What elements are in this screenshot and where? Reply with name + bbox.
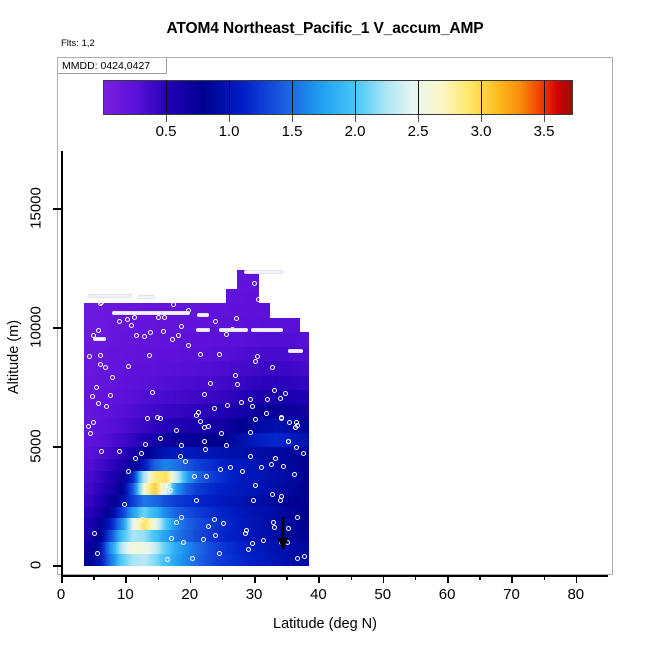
heatmap-cell	[280, 554, 292, 567]
heatmap-cell	[84, 554, 96, 567]
heatmap-cell	[171, 458, 183, 471]
colorbar-divider	[166, 80, 167, 115]
heatmap-cell	[105, 470, 117, 483]
track-point-marker	[133, 456, 138, 461]
heatmap-cell	[84, 494, 96, 507]
heatmap-cell	[259, 470, 271, 483]
heatmap-cell	[226, 289, 238, 304]
heatmap-cell	[299, 432, 309, 447]
track-point-marker	[221, 521, 226, 526]
x-tick-label: 20	[181, 586, 198, 603]
heatmap-cell	[248, 554, 260, 567]
heatmap-cell	[138, 494, 150, 507]
track-point-marker	[269, 462, 274, 467]
heatmap-cell	[259, 418, 271, 433]
track-leg-segment	[197, 313, 209, 317]
heatmap-cell	[127, 542, 139, 555]
x-tick-label: 10	[117, 586, 134, 603]
track-point-marker	[255, 354, 260, 359]
x-minor-tick	[286, 575, 288, 580]
x-axis-line	[61, 575, 608, 577]
heatmap-cell	[138, 530, 150, 543]
heatmap-cell	[259, 542, 271, 555]
heatmap-cell	[259, 506, 271, 519]
track-point-marker	[124, 298, 129, 303]
heatmap-cell	[215, 375, 227, 390]
heatmap-cell	[149, 554, 161, 567]
heatmap-cell	[259, 518, 271, 531]
track-point-marker	[261, 538, 266, 543]
x-minor-tick	[415, 575, 417, 580]
heatmap-cell	[193, 361, 205, 376]
track-point-marker	[202, 439, 207, 444]
heatmap-cell	[237, 554, 249, 567]
track-leg-segment	[288, 349, 303, 353]
heatmap-cell	[204, 482, 216, 495]
heatmap-cell	[127, 518, 139, 531]
x-minor-tick	[351, 575, 353, 580]
heatmap-cell	[149, 518, 161, 531]
heatmap-cell	[116, 506, 128, 519]
heatmap-cell	[94, 470, 106, 483]
heatmap-cell	[299, 403, 309, 418]
track-leg-segment	[219, 328, 248, 332]
heatmap-cell	[84, 482, 96, 495]
track-point-marker	[145, 416, 150, 421]
heatmap-cell	[84, 318, 96, 333]
heatmap-cell	[226, 446, 238, 459]
heatmap-cell	[193, 482, 205, 495]
heatmap-cell	[138, 542, 150, 555]
heatmap-cell	[94, 482, 106, 495]
heatmap-cell	[149, 494, 161, 507]
heatmap-cell	[299, 375, 309, 390]
heatmap-cell	[193, 506, 205, 519]
track-point-marker	[98, 353, 103, 358]
heatmap-cell	[259, 332, 271, 347]
y-tick	[53, 208, 62, 210]
x-tick	[318, 575, 320, 583]
track-point-marker	[157, 295, 162, 300]
heatmap-cell	[105, 518, 117, 531]
heatmap-cell	[84, 518, 96, 531]
colorbar-tick	[355, 115, 356, 122]
y-tick-label: 5000	[28, 430, 45, 463]
x-tick-label: 40	[310, 586, 327, 603]
heatmap-cell	[127, 375, 139, 390]
heatmap-cell	[116, 389, 128, 404]
heatmap-cell	[171, 403, 183, 418]
heatmap-cell	[171, 470, 183, 483]
heatmap-cell	[105, 494, 117, 507]
heatmap-cell	[193, 542, 205, 555]
heatmap-cell	[259, 446, 271, 459]
heatmap-cell	[105, 458, 117, 471]
x-tick	[383, 575, 385, 583]
track-point-marker	[301, 451, 306, 456]
heatmap-cell	[116, 530, 128, 543]
heatmap-cell	[84, 470, 96, 483]
heatmap-cell	[299, 518, 309, 531]
heatmap-cell	[193, 518, 205, 531]
heatmap-cell	[237, 289, 249, 304]
track-leg-segment	[244, 270, 283, 274]
track-leg-segment	[93, 337, 106, 341]
heatmap-cell	[226, 554, 238, 567]
heatmap-cell	[259, 554, 271, 567]
heatmap-cell	[105, 332, 117, 347]
y-tick-label: 15000	[28, 187, 45, 229]
x-tick	[511, 575, 513, 583]
heatmap-cell	[299, 542, 309, 555]
heatmap-cell	[127, 389, 139, 404]
heatmap-cell	[171, 346, 183, 361]
colorbar-tick-label: 2.0	[345, 123, 366, 140]
heatmap-cell	[105, 554, 117, 567]
heatmap-cell	[149, 506, 161, 519]
track-point-marker	[252, 281, 257, 286]
colorbar-tick-label: 3.5	[534, 123, 555, 140]
heatmap-cell	[299, 361, 309, 376]
heatmap-cell	[182, 494, 194, 507]
colorbar-tick-label: 3.0	[471, 123, 492, 140]
colorbar[interactable]: 0.51.01.52.02.53.03.5	[103, 80, 573, 115]
track-leg-segment	[88, 294, 132, 298]
heatmap-cell	[116, 518, 128, 531]
track-point-marker	[279, 416, 284, 421]
heatmap-cell	[280, 470, 292, 483]
heatmap-cell	[204, 542, 216, 555]
colorbar-divider	[544, 80, 545, 115]
track-leg-segment	[138, 295, 155, 299]
track-leg-segment	[112, 311, 189, 315]
heatmap-cell	[105, 418, 117, 433]
x-minor-tick	[544, 575, 546, 580]
track-point-marker	[148, 330, 153, 335]
track-point-marker	[286, 439, 291, 444]
heatmap-cell	[299, 506, 309, 519]
heatmap-cell	[116, 403, 128, 418]
track-point-marker	[171, 302, 176, 307]
x-tick-label: 50	[374, 586, 391, 603]
heatmap-cell	[215, 506, 227, 519]
heatmap-cell	[171, 375, 183, 390]
heatmap-cell	[149, 470, 161, 483]
heatmap-cell	[84, 458, 96, 471]
heatmap-cell	[160, 494, 172, 507]
heatmap-cell	[226, 482, 238, 495]
heatmap-cell	[94, 418, 106, 433]
heatmap-cell	[138, 458, 150, 471]
colorbar-divider	[481, 80, 482, 115]
heatmap-cell	[138, 361, 150, 376]
x-axis-title: Latitude (deg N)	[0, 616, 650, 632]
heatmap-cell	[226, 389, 238, 404]
track-point-marker	[253, 417, 258, 422]
track-point-marker	[181, 540, 186, 545]
heatmap-cell	[270, 554, 282, 567]
track-point-marker	[86, 424, 91, 429]
heatmap-cell	[215, 446, 227, 459]
track-point-marker	[183, 459, 188, 464]
heatmap-cell	[280, 446, 292, 459]
track-point-marker	[264, 411, 269, 416]
heatmap-cell	[204, 554, 216, 567]
heatmap-cell	[94, 458, 106, 471]
track-point-marker	[294, 420, 299, 425]
heatmap-cell	[237, 403, 249, 418]
heatmap-cell	[105, 346, 117, 361]
heatmap-cell	[204, 494, 216, 507]
heatmap-cell	[259, 303, 271, 318]
heatmap-cell	[116, 418, 128, 433]
heatmap-cell	[94, 494, 106, 507]
track-point-marker	[176, 333, 181, 338]
heatmap-cell	[280, 375, 292, 390]
colorbar-divider	[355, 80, 356, 115]
track-point-marker	[253, 483, 258, 488]
heatmap-cell	[237, 482, 249, 495]
track-point-marker	[193, 293, 198, 298]
heatmap-cell	[299, 458, 309, 471]
heatmap-cell	[182, 346, 194, 361]
track-point-marker	[248, 397, 253, 402]
track-point-marker	[186, 343, 191, 348]
track-point-marker	[203, 447, 208, 452]
heatmap-cell	[127, 482, 139, 495]
heatmap-cell	[171, 554, 183, 567]
heatmap-cell	[105, 432, 117, 447]
heatmap-cell	[182, 418, 194, 433]
heatmap-cell	[94, 518, 106, 531]
heatmap-cell	[171, 494, 183, 507]
colorbar-tick	[544, 115, 545, 122]
heatmap-cell	[116, 332, 128, 347]
heatmap-cell	[226, 542, 238, 555]
track-point-marker	[212, 517, 217, 522]
heatmap-cell	[138, 375, 150, 390]
colorbar-tick	[229, 115, 230, 122]
heatmap-cell	[160, 375, 172, 390]
heatmap-cell	[94, 506, 106, 519]
track-point-marker	[213, 319, 218, 324]
track-point-marker	[147, 353, 152, 358]
colorbar-gradient	[103, 80, 573, 115]
heatmap-cell	[226, 494, 238, 507]
heatmap-cell	[248, 303, 260, 318]
heatmap-cell	[105, 318, 117, 333]
x-minor-tick	[222, 575, 224, 580]
track-point-marker	[95, 551, 100, 556]
track-point-marker	[248, 430, 253, 435]
heatmap-cell	[160, 518, 172, 531]
heatmap-cell	[215, 494, 227, 507]
heatmap-cell	[127, 432, 139, 447]
heatmap-cell	[237, 446, 249, 459]
heatmap-cell	[226, 518, 238, 531]
track-point-marker	[208, 381, 213, 386]
track-point-marker	[278, 396, 283, 401]
heatmap-cell	[84, 542, 96, 555]
heatmap-cell	[127, 530, 139, 543]
x-tick-label: 30	[246, 586, 263, 603]
heatmap-cell	[270, 332, 282, 347]
y-axis-title: Altitude (m)	[6, 320, 22, 394]
heatmap-cell	[248, 470, 260, 483]
heatmap-cell	[160, 446, 172, 459]
heatmap-cell	[171, 361, 183, 376]
heatmap-cell	[299, 482, 309, 495]
arrow-marker	[276, 517, 290, 551]
colorbar-divider	[418, 80, 419, 115]
track-point-marker	[92, 531, 97, 536]
heatmap-cell	[280, 361, 292, 376]
heatmap-cell	[149, 530, 161, 543]
heatmap-cell	[204, 458, 216, 471]
heatmap-cell	[248, 332, 260, 347]
heatmap-cell	[116, 554, 128, 567]
track-point-marker	[287, 420, 292, 425]
x-tick-label: 70	[503, 586, 520, 603]
x-tick	[190, 575, 192, 583]
heatmap-cell	[226, 506, 238, 519]
y-axis-line	[61, 151, 63, 576]
heatmap-cell	[160, 506, 172, 519]
heatmap-cell	[299, 389, 309, 404]
heatmap-cell	[237, 418, 249, 433]
heatmap-field[interactable]	[61, 151, 608, 575]
track-point-marker	[96, 328, 101, 333]
heatmap-cell	[160, 458, 172, 471]
colorbar-divider	[292, 80, 293, 115]
heatmap-cell	[160, 542, 172, 555]
heatmap-cell	[182, 518, 194, 531]
heatmap-cell	[215, 389, 227, 404]
heatmap-cell	[160, 470, 172, 483]
track-point-marker	[235, 382, 240, 387]
heatmap-cell	[182, 361, 194, 376]
heatmap-cell	[105, 530, 117, 543]
heatmap-cell	[160, 361, 172, 376]
heatmap-cell	[171, 482, 183, 495]
heatmap-cell	[270, 432, 282, 447]
track-point-marker	[253, 359, 258, 364]
x-tick	[254, 575, 256, 583]
heatmap-cell	[204, 332, 216, 347]
heatmap-cell	[299, 530, 309, 543]
heatmap-cell	[94, 432, 106, 447]
track-point-marker	[170, 337, 175, 342]
track-point-marker	[165, 557, 170, 562]
colorbar-tick	[481, 115, 482, 122]
heatmap-cell	[138, 389, 150, 404]
heatmap-cell	[259, 346, 271, 361]
colorbar-tick-label: 0.5	[156, 123, 177, 140]
heatmap-cell	[259, 375, 271, 390]
track-leg-segment	[196, 328, 210, 332]
heatmap-cell	[149, 458, 161, 471]
track-point-marker	[283, 391, 288, 396]
heatmap-cell	[149, 375, 161, 390]
colorbar-tick	[166, 115, 167, 122]
heatmap-cell	[226, 346, 238, 361]
heatmap-cell	[84, 403, 96, 418]
colorbar-tick-label: 1.5	[282, 123, 303, 140]
heatmap-cell	[193, 458, 205, 471]
heatmap-cell	[226, 470, 238, 483]
heatmap-cell	[248, 518, 260, 531]
heatmap-cell	[105, 446, 117, 459]
track-point-marker	[281, 464, 286, 469]
track-point-marker	[250, 541, 255, 546]
heatmap-cell	[215, 482, 227, 495]
heatmap-cell	[280, 332, 292, 347]
heatmap-cell	[259, 494, 271, 507]
heatmap-cell	[138, 470, 150, 483]
heatmap-cell	[259, 361, 271, 376]
track-point-marker	[271, 520, 276, 525]
track-point-marker	[87, 354, 92, 359]
track-point-marker	[265, 397, 270, 402]
track-point-marker	[294, 445, 299, 450]
heatmap-cell	[193, 554, 205, 567]
heatmap-cell	[270, 346, 282, 361]
heatmap-cell	[84, 361, 96, 376]
colorbar-tick-label: 2.5	[408, 123, 429, 140]
heatmap-cell	[299, 418, 309, 433]
heatmap-cell	[215, 470, 227, 483]
heatmap-cell	[182, 446, 194, 459]
heatmap-cell	[127, 554, 139, 567]
y-tick-label: 0	[28, 561, 45, 569]
heatmap-cell	[248, 375, 260, 390]
heatmap-cell	[84, 303, 96, 318]
y-tick	[53, 446, 62, 448]
heatmap-cell	[193, 332, 205, 347]
heatmap-cell	[105, 482, 117, 495]
track-point-marker	[224, 332, 229, 337]
page-title: ATOM4 Northeast_Pacific_1 V_accum_AMP	[0, 20, 650, 38]
heatmap-cell	[138, 482, 150, 495]
colorbar-divider	[229, 80, 230, 115]
heatmap-cell	[171, 389, 183, 404]
heatmap-cell	[149, 361, 161, 376]
heatmap-cell	[160, 346, 172, 361]
track-point-marker	[202, 392, 207, 397]
heatmap-cell	[237, 332, 249, 347]
track-point-marker	[178, 454, 183, 459]
track-point-marker	[204, 474, 209, 479]
track-point-marker	[117, 449, 122, 454]
heatmap-cell	[248, 458, 260, 471]
colorbar-tick	[418, 115, 419, 122]
x-minor-tick	[93, 575, 95, 580]
x-tick	[576, 575, 578, 583]
heatmap-cell	[193, 375, 205, 390]
heatmap-cell	[127, 494, 139, 507]
heatmap-cell	[237, 432, 249, 447]
heatmap-cell	[182, 389, 194, 404]
heatmap-cell	[182, 375, 194, 390]
x-minor-tick	[479, 575, 481, 580]
track-point-marker	[273, 456, 278, 461]
heatmap-cell	[84, 446, 96, 459]
x-tick-label: 60	[439, 586, 456, 603]
heatmap-cell	[182, 403, 194, 418]
heatmap-cell	[215, 303, 227, 318]
track-leg-segment	[251, 328, 283, 332]
heatmap-cell	[149, 482, 161, 495]
